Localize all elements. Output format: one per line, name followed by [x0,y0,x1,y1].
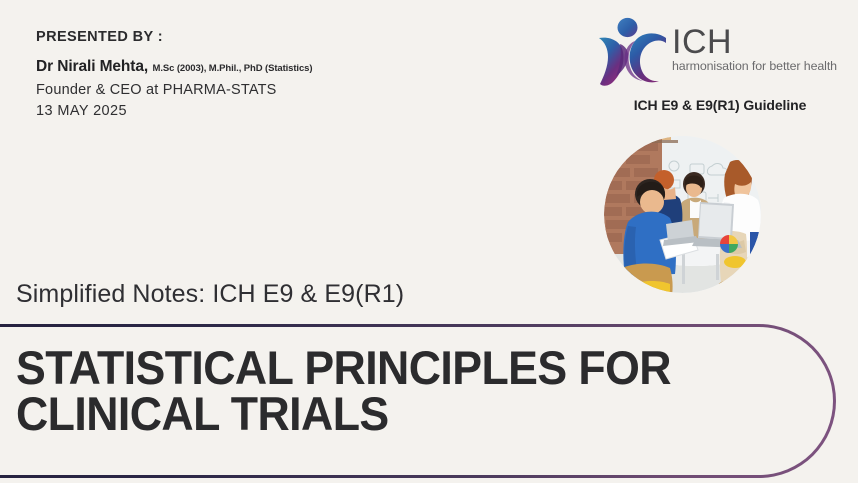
slide-subtitle: Simplified Notes: ICH E9 & E9(R1) [16,280,404,309]
page-title-line1: STATISTICAL PRINCIPLES FOR [16,341,671,394]
presentation-date: 13 MAY 2025 [36,102,456,120]
ich-human-figure-icon [596,16,670,88]
presenter-name-line: Dr Nirali Mehta, M.Sc (2003), M.Phil., P… [36,59,456,76]
presenter-role: Founder & CEO at PHARMA-STATS [36,81,456,99]
ich-wordmark-block: ICH harmonisation for better health [672,14,837,73]
ich-logo-block: ICH harmonisation for better health ICH … [596,14,844,113]
ich-wordmark: ICH [672,26,837,58]
presented-by-label: PRESENTED BY : [36,30,456,46]
presentation-slide: PRESENTED BY : Dr Nirali Mehta, M.Sc (20… [0,0,858,483]
team-meeting-photo [604,136,761,293]
presenter-degrees: M.Sc (2003), M.Phil., PhD (Statistics) [153,63,313,74]
ich-logo-row: ICH harmonisation for better health [596,14,844,88]
presenter-name: Dr Nirali Mehta, [36,58,148,75]
page-title: STATISTICAL PRINCIPLES FOR CLINICAL TRIA… [16,345,776,437]
guideline-caption: ICH E9 & E9(R1) Guideline [596,97,844,113]
presenter-block: PRESENTED BY : Dr Nirali Mehta, M.Sc (20… [36,30,456,120]
page-title-line2: CLINICAL TRIALS [16,391,776,437]
ich-tagline: harmonisation for better health [672,59,837,73]
